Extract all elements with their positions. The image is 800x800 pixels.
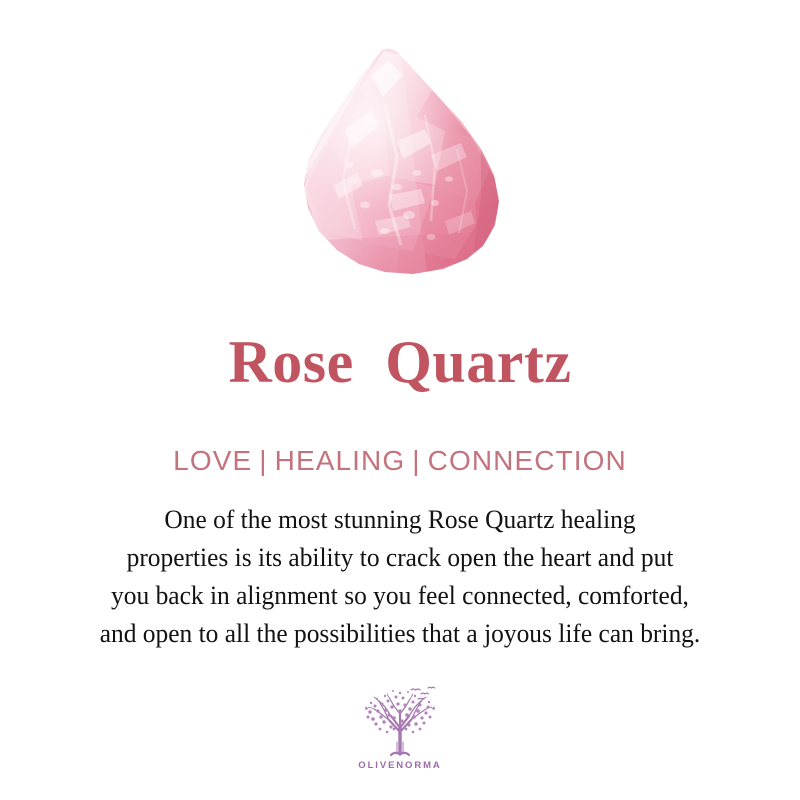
tree-of-life-icon	[358, 684, 442, 760]
birds-icon	[411, 687, 435, 699]
keyword-love: LOVE	[173, 445, 252, 476]
crystal-body	[285, 45, 515, 290]
rose-quartz-crystal-photo	[285, 45, 515, 290]
description-line: properties is its ability to crack open …	[16, 538, 784, 576]
description-line: One of the most stunning Rose Quartz hea…	[16, 500, 784, 538]
keyword-tagline: LOVE|HEALING|CONNECTION	[0, 447, 800, 475]
keyword-separator-1: |	[252, 445, 274, 476]
description-line: and open to all the possibilities that a…	[16, 614, 784, 652]
brand-logo: OLIVENORMA	[340, 684, 460, 771]
keyword-healing: HEALING	[275, 445, 406, 476]
keyword-separator-2: |	[405, 445, 427, 476]
hero-image-area	[0, 0, 800, 300]
brand-name: OLIVENORMA	[340, 761, 460, 771]
description-line: you back in alignment so you feel connec…	[16, 576, 784, 614]
description-paragraph: One of the most stunning Rose Quartz hea…	[0, 500, 800, 652]
keyword-connection: CONNECTION	[428, 445, 627, 476]
page-title: Rose Quartz	[0, 332, 800, 392]
rose-quartz-product-card: Rose Quartz LOVE|HEALING|CONNECTION One …	[0, 0, 800, 800]
